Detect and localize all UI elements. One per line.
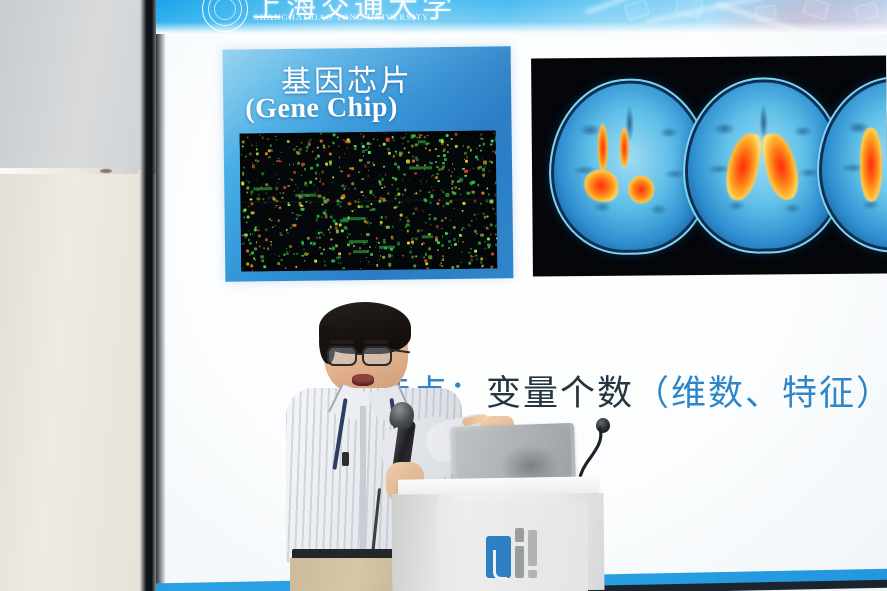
mouth xyxy=(352,374,374,386)
shirt-placket xyxy=(360,406,366,556)
text-segment-3: （维数、特征） xyxy=(634,374,887,414)
glasses-lens-left xyxy=(327,346,357,366)
room-wall-upper xyxy=(0,0,156,172)
mri-slice xyxy=(821,81,887,248)
emblem-gray-bar xyxy=(515,546,524,578)
presentation-photo: 上海交通大学 SHANGHAI JIAO TONG UNIVERSITY 基因芯… xyxy=(0,0,887,591)
eyebrow-right xyxy=(364,340,388,344)
mri-slice xyxy=(687,82,840,249)
brain-sulci xyxy=(559,89,700,244)
glasses-bridge xyxy=(356,353,364,355)
ventricle-hot xyxy=(628,175,654,203)
wall-seam xyxy=(0,168,156,174)
banner-fade xyxy=(156,22,887,34)
brain-mri-panel xyxy=(531,55,887,276)
emblem-gray-bar xyxy=(515,528,524,542)
room-wall-lower xyxy=(0,172,150,591)
podium-emblem-icon xyxy=(486,528,542,578)
university-name-en: SHANGHAI JIAO TONG UNIVERSITY xyxy=(254,12,429,22)
emblem-blue-block xyxy=(486,536,511,578)
slide-banner: 上海交通大学 SHANGHAI JIAO TONG UNIVERSITY xyxy=(156,0,887,34)
lapel-mic-icon xyxy=(342,452,349,466)
gene-chip-title-en: (Gene Chip) xyxy=(245,92,398,126)
brain-sulci xyxy=(693,88,834,243)
ventricle-hot xyxy=(620,128,629,168)
mri-slice xyxy=(553,83,706,250)
emblem-gray-bar xyxy=(528,570,537,578)
wall-fixture-dot xyxy=(100,169,112,173)
glasses-lens-right xyxy=(362,346,392,366)
emblem-gray-bar xyxy=(528,530,537,566)
emblem-notch xyxy=(493,550,507,580)
gene-chip-panel: 基因芯片 (Gene Chip) xyxy=(223,46,514,282)
dna-microarray-image xyxy=(240,130,498,271)
eyebrow-left xyxy=(330,340,354,344)
ventricle-hot xyxy=(860,127,883,201)
screen-left-shadow xyxy=(156,0,166,591)
